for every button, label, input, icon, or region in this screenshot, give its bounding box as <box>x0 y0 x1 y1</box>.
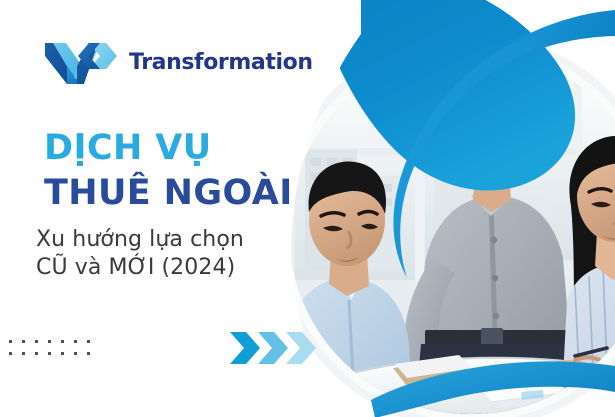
subtitle-line-1: Xu hướng lựa chọn <box>36 226 244 254</box>
dot <box>87 340 90 343</box>
mp-logo-icon <box>44 40 118 86</box>
chevron-3-icon <box>286 332 316 364</box>
dot <box>35 352 38 355</box>
dot <box>35 340 38 343</box>
brand-logo[interactable]: Transformation <box>44 40 313 86</box>
team-photo <box>289 50 615 416</box>
dot <box>74 352 77 355</box>
dot <box>22 352 25 355</box>
dot <box>61 352 64 355</box>
dot <box>48 340 51 343</box>
dot <box>74 340 77 343</box>
headline-line-1: DỊCH VỤ <box>44 131 293 166</box>
dot <box>61 340 64 343</box>
dot <box>9 340 12 343</box>
blue-arc <box>393 10 615 278</box>
person-left <box>289 161 413 416</box>
chevron-decoration <box>228 330 320 366</box>
artwork-panel <box>275 0 615 417</box>
chevron-1-icon <box>230 332 260 364</box>
dot <box>48 352 51 355</box>
page-title: DỊCH VỤ THUÊ NGOÀI <box>44 131 293 211</box>
documents <box>393 355 567 402</box>
subtitle-line-2: CŨ và MỚI (2024) <box>36 254 244 282</box>
dot <box>87 352 90 355</box>
dot-grid-decoration <box>9 340 100 364</box>
meeting-table <box>331 348 615 416</box>
blue-arc-bottom <box>371 361 615 417</box>
dot <box>22 340 25 343</box>
dot <box>9 352 12 355</box>
person-right <box>561 136 615 416</box>
chevron-2-icon <box>258 332 288 364</box>
blue-blob-top <box>319 0 575 191</box>
photo-ring <box>275 34 615 417</box>
headline-line-2: THUÊ NGOÀI <box>44 176 293 211</box>
logo-wordmark: Transformation <box>129 52 313 74</box>
person-standing <box>396 60 581 416</box>
page-subtitle: Xu hướng lựa chọn CŨ và MỚI (2024) <box>36 226 244 282</box>
banner-root: Transformation DỊCH VỤ THUÊ NGOÀI Xu hướ… <box>0 0 615 417</box>
